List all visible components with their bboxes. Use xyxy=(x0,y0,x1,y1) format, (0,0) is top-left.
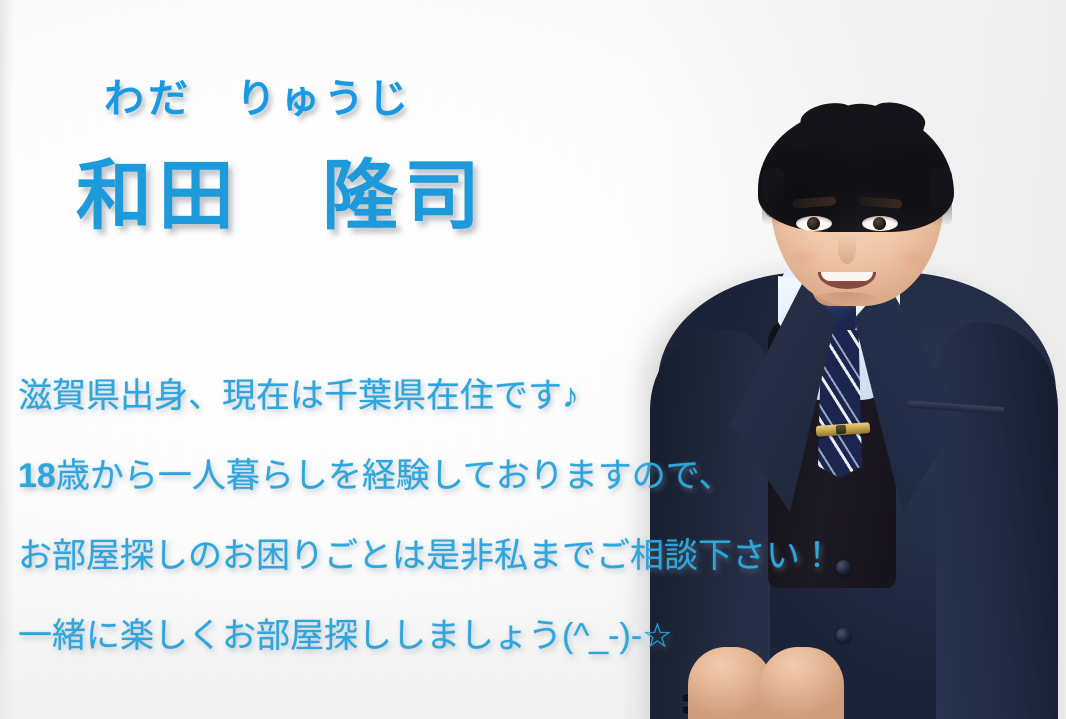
message-line-3: お部屋探しのお困りごとは是非私までご相談下さい！ xyxy=(18,516,834,596)
message-line-4: 一緒に楽しくお部屋探ししましょう(^_-)-☆ xyxy=(18,596,834,676)
message-line-2: 18歳から一人暮らしを経験しておりますので、 xyxy=(18,436,834,516)
text-overlay: わだ りゅうじ 和田 隆司 滋賀県出身、現在は千葉県在住です♪ 18歳から一人暮… xyxy=(0,0,1066,719)
staff-profile-card: わだ りゅうじ 和田 隆司 滋賀県出身、現在は千葉県在住です♪ 18歳から一人暮… xyxy=(0,0,1066,719)
staff-name: 和田 隆司 xyxy=(76,134,486,244)
message-line-2-bold-number: 18 xyxy=(18,457,56,495)
message-line-2-rest: 歳から一人暮らしを経験しておりますので、 xyxy=(56,457,733,495)
name-furigana: わだ りゅうじ xyxy=(104,66,412,124)
staff-message: 滋賀県出身、現在は千葉県在住です♪ 18歳から一人暮らしを経験しておりますので、… xyxy=(18,356,834,676)
message-line-1: 滋賀県出身、現在は千葉県在住です♪ xyxy=(18,356,834,436)
